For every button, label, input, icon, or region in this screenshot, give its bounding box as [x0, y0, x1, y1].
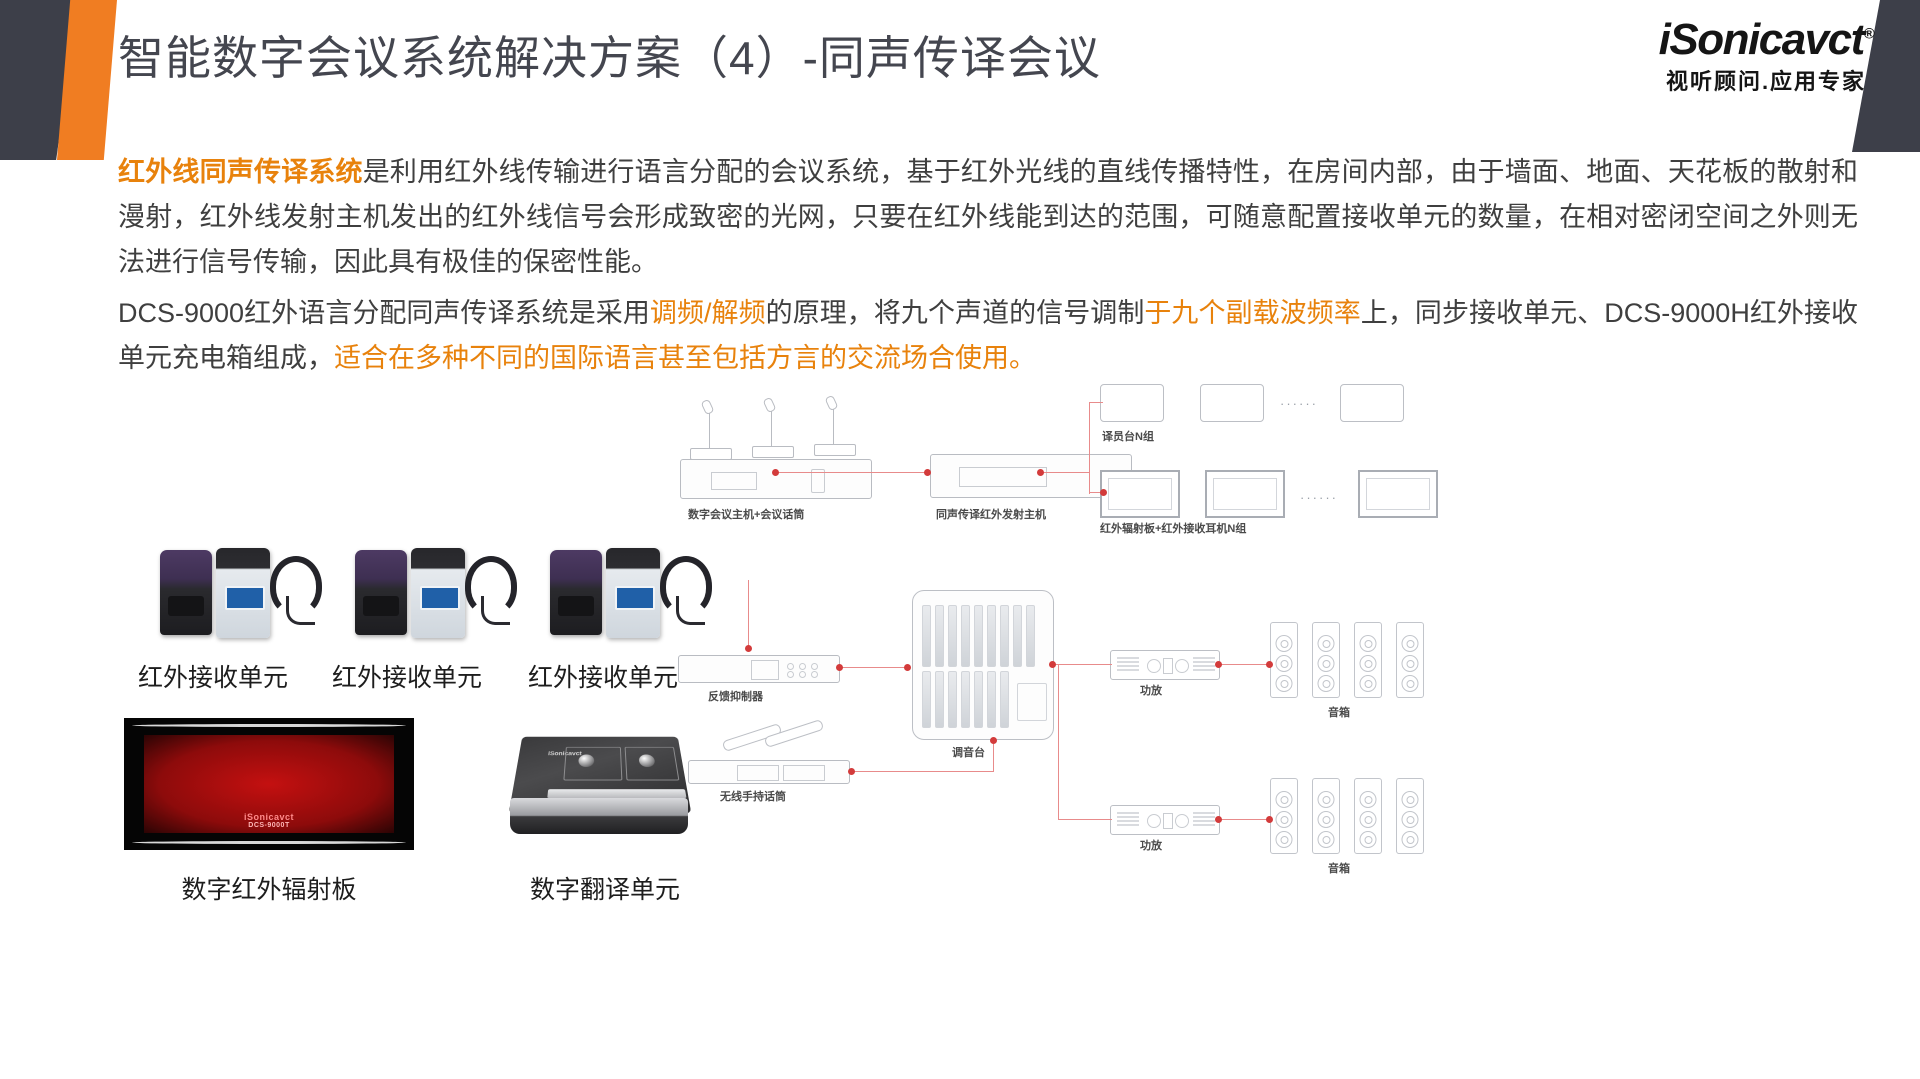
system-diagram: 数字会议主机+会议话筒 同声传译红外发射主机 ······ 译员台N组 ····… — [800, 460, 1910, 1020]
node-mixer-out — [1049, 661, 1056, 668]
receiver-white-body — [216, 548, 270, 638]
brand-logo: iSonicavct® 视听顾问.应用专家 — [1632, 14, 1900, 112]
amplifier-bottom-device — [1110, 805, 1220, 835]
wire-mixer-branch — [1058, 664, 1059, 820]
label-feedback-suppressor: 反馈抑制器 — [708, 688, 763, 704]
receiver-caption-2: 红外接收单元 — [322, 658, 492, 694]
radiator-brand-text: iSonicavct — [244, 812, 294, 822]
ir-panel-2 — [1205, 470, 1285, 518]
wire-amp-bottom-to-speakers — [1218, 819, 1272, 820]
ir-panel-1 — [1100, 470, 1180, 518]
receiver-purple-body — [355, 550, 407, 635]
node-transmitter-out — [1037, 469, 1044, 476]
wire-suppressor-to-mixer — [840, 667, 908, 668]
label-ir-panels: 红外辐射板+红外接收耳机N组 — [1100, 520, 1246, 536]
label-speakers-bottom: 音箱 — [1328, 860, 1350, 876]
radiator-brand-label: iSonicavct DCS-9000T — [144, 812, 394, 829]
wire-to-desks — [1089, 402, 1103, 403]
receiver-photo-row — [150, 530, 710, 660]
wire-wireless-mic-out — [852, 771, 994, 772]
radiator-photo: iSonicavct DCS-9000T — [124, 718, 414, 850]
node-wireless-mic-to-mixer — [990, 737, 997, 744]
node-speakers-top-in — [1266, 661, 1273, 668]
node-speakers-bottom-in — [1266, 816, 1273, 823]
speaker-top-2 — [1312, 622, 1340, 698]
paragraph-2-part-a: DCS-9000红外语言分配同声传译系统是采用 — [118, 298, 650, 328]
mixer-device — [912, 590, 1054, 740]
paragraph-1-rest: 是利用红外线传输进行语言分配的会议系统，基于红外光线的直线传播特性，在房间内部，… — [118, 157, 1858, 277]
paragraph-2-highlight-3: 适合在多种不同的国际语言甚至包括方言的交流场合使用。 — [334, 343, 1036, 373]
node-host-out — [772, 469, 779, 476]
label-ir-transmitter: 同声传译红外发射主机 — [936, 506, 1046, 522]
label-interpreter-desks: 译员台N组 — [1102, 428, 1154, 444]
wire-transmitter-branch — [1089, 402, 1090, 494]
interpreter-desk-1 — [1100, 384, 1164, 422]
wire-transmitter-out — [1040, 472, 1090, 473]
wire-mixer-to-amp-top — [1052, 664, 1112, 665]
receiver-caption-3: 红外接收单元 — [518, 658, 688, 694]
feedback-suppressor-device — [678, 655, 840, 683]
interpreter-desk-n — [1340, 384, 1404, 422]
label-speakers-top: 音箱 — [1328, 704, 1350, 720]
headphone-cord-icon — [481, 596, 510, 625]
receiver-purple-body — [160, 550, 212, 635]
node-suppressor-in — [745, 645, 752, 652]
receiver-photo-2 — [345, 530, 505, 650]
wire-wireless-mic-up — [993, 744, 994, 772]
translator-channel-keys[interactable] — [547, 789, 686, 798]
paragraph-1: 红外线同声传译系统是利用红外线传输进行语言分配的会议系统，基于红外光线的直线传播… — [118, 150, 1858, 285]
logo-wordmark-text: iSonicavct — [1659, 15, 1864, 64]
page-title: 智能数字会议系统解决方案（4）-同声传译会议 — [118, 30, 1101, 88]
receiver-photo-1 — [150, 530, 310, 650]
amplifier-top-device — [1110, 650, 1220, 680]
ir-panel-ellipsis: ······ — [1300, 490, 1338, 505]
receiver-white-body — [606, 548, 660, 638]
paragraph-2-highlight-1: 调频/解频 — [650, 298, 766, 328]
node-amp-bottom-out — [1215, 816, 1222, 823]
wire-to-suppressor — [748, 580, 749, 648]
receiver-white-body — [411, 548, 465, 638]
translator-knob-2[interactable] — [639, 754, 656, 767]
wire-host-to-transmitter — [775, 472, 930, 473]
label-amp-bottom: 功放 — [1140, 837, 1162, 853]
ir-panel-n — [1358, 470, 1438, 518]
receiver-photo-3 — [540, 530, 700, 650]
speaker-top-3 — [1354, 622, 1382, 698]
label-conference-host: 数字会议主机+会议话筒 — [688, 506, 804, 522]
speaker-bottom-1 — [1270, 778, 1298, 854]
logo-tagline: 视听顾问.应用专家 — [1632, 64, 1900, 96]
translator-unit-photo: iSonicavct — [498, 712, 698, 860]
interpreter-desk-ellipsis: ······ — [1280, 396, 1318, 411]
radiator-glow-panel: iSonicavct DCS-9000T — [144, 735, 394, 833]
radiator-caption: 数字红外辐射板 — [104, 870, 434, 906]
wire-amp-top-to-speakers — [1218, 664, 1272, 665]
node-wireless-mic-out — [848, 768, 855, 775]
node-mixer-in — [904, 664, 911, 671]
speaker-bottom-3 — [1354, 778, 1382, 854]
registered-icon: ® — [1864, 25, 1874, 42]
node-suppressor-out — [836, 664, 843, 671]
node-amp-top-out — [1215, 661, 1222, 668]
footer-swoosh — [0, 1017, 1920, 1079]
wire-mixer-to-amp-bottom — [1058, 819, 1112, 820]
node-ir-panel-in — [1100, 489, 1107, 496]
receiver-caption-1: 红外接收单元 — [128, 658, 298, 694]
paragraph-2-highlight-2: 于九个副载波频率 — [1144, 298, 1360, 328]
logo-wordmark: iSonicavct® — [1632, 14, 1900, 62]
paragraph-1-highlight: 红外线同声传译系统 — [118, 157, 363, 187]
headphone-cord-icon — [676, 596, 705, 625]
paragraph-2: DCS-9000红外语言分配同声传译系统是采用调频/解频的原理，将九个声道的信号… — [118, 291, 1858, 381]
node-transmitter-in — [924, 469, 931, 476]
headphone-cord-icon — [286, 596, 315, 625]
translator-caption: 数字翻译单元 — [480, 870, 730, 906]
label-wireless-mic: 无线手持话筒 — [720, 788, 786, 804]
receiver-purple-body — [550, 550, 602, 635]
speaker-bottom-4 — [1396, 778, 1424, 854]
body-copy: 红外线同声传译系统是利用红外线传输进行语言分配的会议系统，基于红外光线的直线传播… — [118, 150, 1858, 387]
label-amp-top: 功放 — [1140, 682, 1162, 698]
paragraph-2-part-b: 的原理，将九个声道的信号调制 — [766, 298, 1145, 328]
speaker-top-1 — [1270, 622, 1298, 698]
translator-front-face — [510, 798, 688, 834]
speaker-bottom-2 — [1312, 778, 1340, 854]
wireless-mic-receiver-device — [688, 760, 850, 784]
speaker-top-4 — [1396, 622, 1424, 698]
interpreter-desk-2 — [1200, 384, 1264, 422]
radiator-model-text: DCS-9000T — [144, 822, 394, 829]
label-mixer: 调音台 — [952, 744, 985, 760]
conference-host-device — [680, 459, 872, 499]
